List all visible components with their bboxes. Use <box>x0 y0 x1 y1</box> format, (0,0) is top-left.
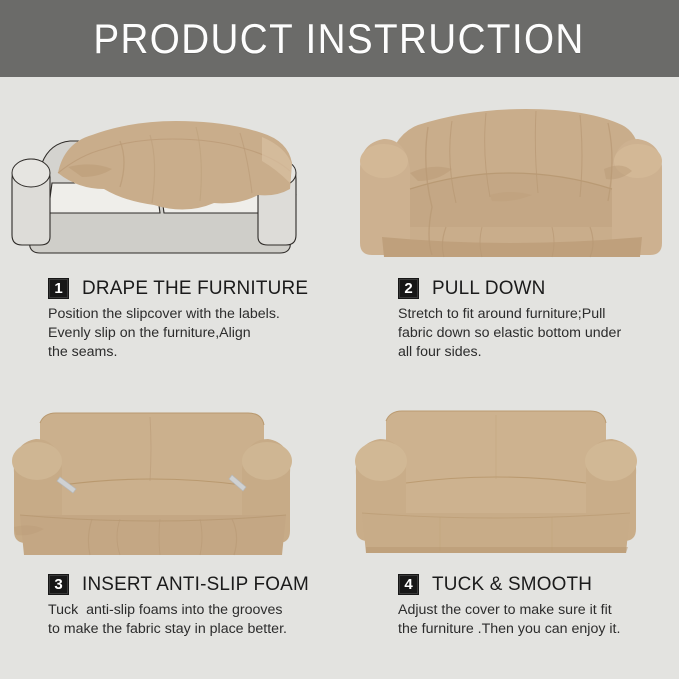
step-1-body-line: Position the slipcover with the labels. <box>48 305 340 324</box>
step-2-body-line: Stretch to fit around furniture;Pull <box>398 305 679 324</box>
step-card-1: 1 DRAPE THE FURNITURE Position the slipc… <box>0 77 340 377</box>
step-3-heading: 3 INSERT ANTI-SLIP FOAM <box>0 573 340 596</box>
step-4-caption: 4 TUCK & SMOOTH Adjust the cover to make… <box>340 573 679 639</box>
step-3-body-line: to make the fabric stay in place better. <box>48 620 340 639</box>
steps-grid: 1 DRAPE THE FURNITURE Position the slipc… <box>0 77 679 679</box>
step-3-title: INSERT ANTI-SLIP FOAM <box>82 573 309 596</box>
step-4-illustration <box>340 377 679 577</box>
step-2-caption: 2 PULL DOWN Stretch to fit around furnit… <box>340 277 679 362</box>
step-number-badge-3: 3 <box>48 574 69 595</box>
step-1-body: Position the slipcover with the labels. … <box>0 305 340 362</box>
step-1-body-line: the seams. <box>48 343 340 362</box>
step-1-body-line: Evenly slip on the furniture,Align <box>48 324 340 343</box>
step-1-caption: 1 DRAPE THE FURNITURE Position the slipc… <box>0 277 340 362</box>
step-2-body: Stretch to fit around furniture;Pull fab… <box>340 305 679 362</box>
finished-smooth-cover-sofa <box>355 411 637 553</box>
header-banner: PRODUCT INSTRUCTION <box>0 0 679 77</box>
step-1-illustration <box>0 77 340 277</box>
page-title: PRODUCT INSTRUCTION <box>94 15 585 63</box>
step-4-body-line: Adjust the cover to make sure it fit <box>398 601 679 620</box>
step-2-title: PULL DOWN <box>432 277 546 300</box>
step-3-caption: 3 INSERT ANTI-SLIP FOAM Tuck anti-slip f… <box>0 573 340 639</box>
step-card-2: 2 PULL DOWN Stretch to fit around furnit… <box>340 77 679 377</box>
step-4-body: Adjust the cover to make sure it fit the… <box>340 601 679 639</box>
fitted-cover-sofa-with-foam <box>12 413 292 555</box>
step-2-illustration <box>340 77 679 277</box>
step-4-body-line: the furniture .Then you can enjoy it. <box>398 620 679 639</box>
step-3-body: Tuck anti-slip foams into the grooves to… <box>0 601 340 639</box>
step-1-title: DRAPE THE FURNITURE <box>82 277 308 300</box>
step-card-3: 3 INSERT ANTI-SLIP FOAM Tuck anti-slip f… <box>0 377 340 679</box>
step-2-body-line: fabric down so elastic bottom under <box>398 324 679 343</box>
step-4-title: TUCK & SMOOTH <box>432 573 592 596</box>
step-number-badge-1: 1 <box>48 278 69 299</box>
step-number-badge-4: 4 <box>398 574 419 595</box>
step-number-badge-2: 2 <box>398 278 419 299</box>
step-1-heading: 1 DRAPE THE FURNITURE <box>0 277 340 300</box>
step-2-body-line: all four sides. <box>398 343 679 362</box>
step-3-illustration <box>0 377 340 577</box>
step-2-heading: 2 PULL DOWN <box>340 277 679 300</box>
step-4-heading: 4 TUCK & SMOOTH <box>340 573 679 596</box>
step-3-body-line: Tuck anti-slip foams into the grooves <box>48 601 340 620</box>
step-card-4: 4 TUCK & SMOOTH Adjust the cover to make… <box>340 377 679 679</box>
sofa-loosely-covered <box>360 109 662 257</box>
